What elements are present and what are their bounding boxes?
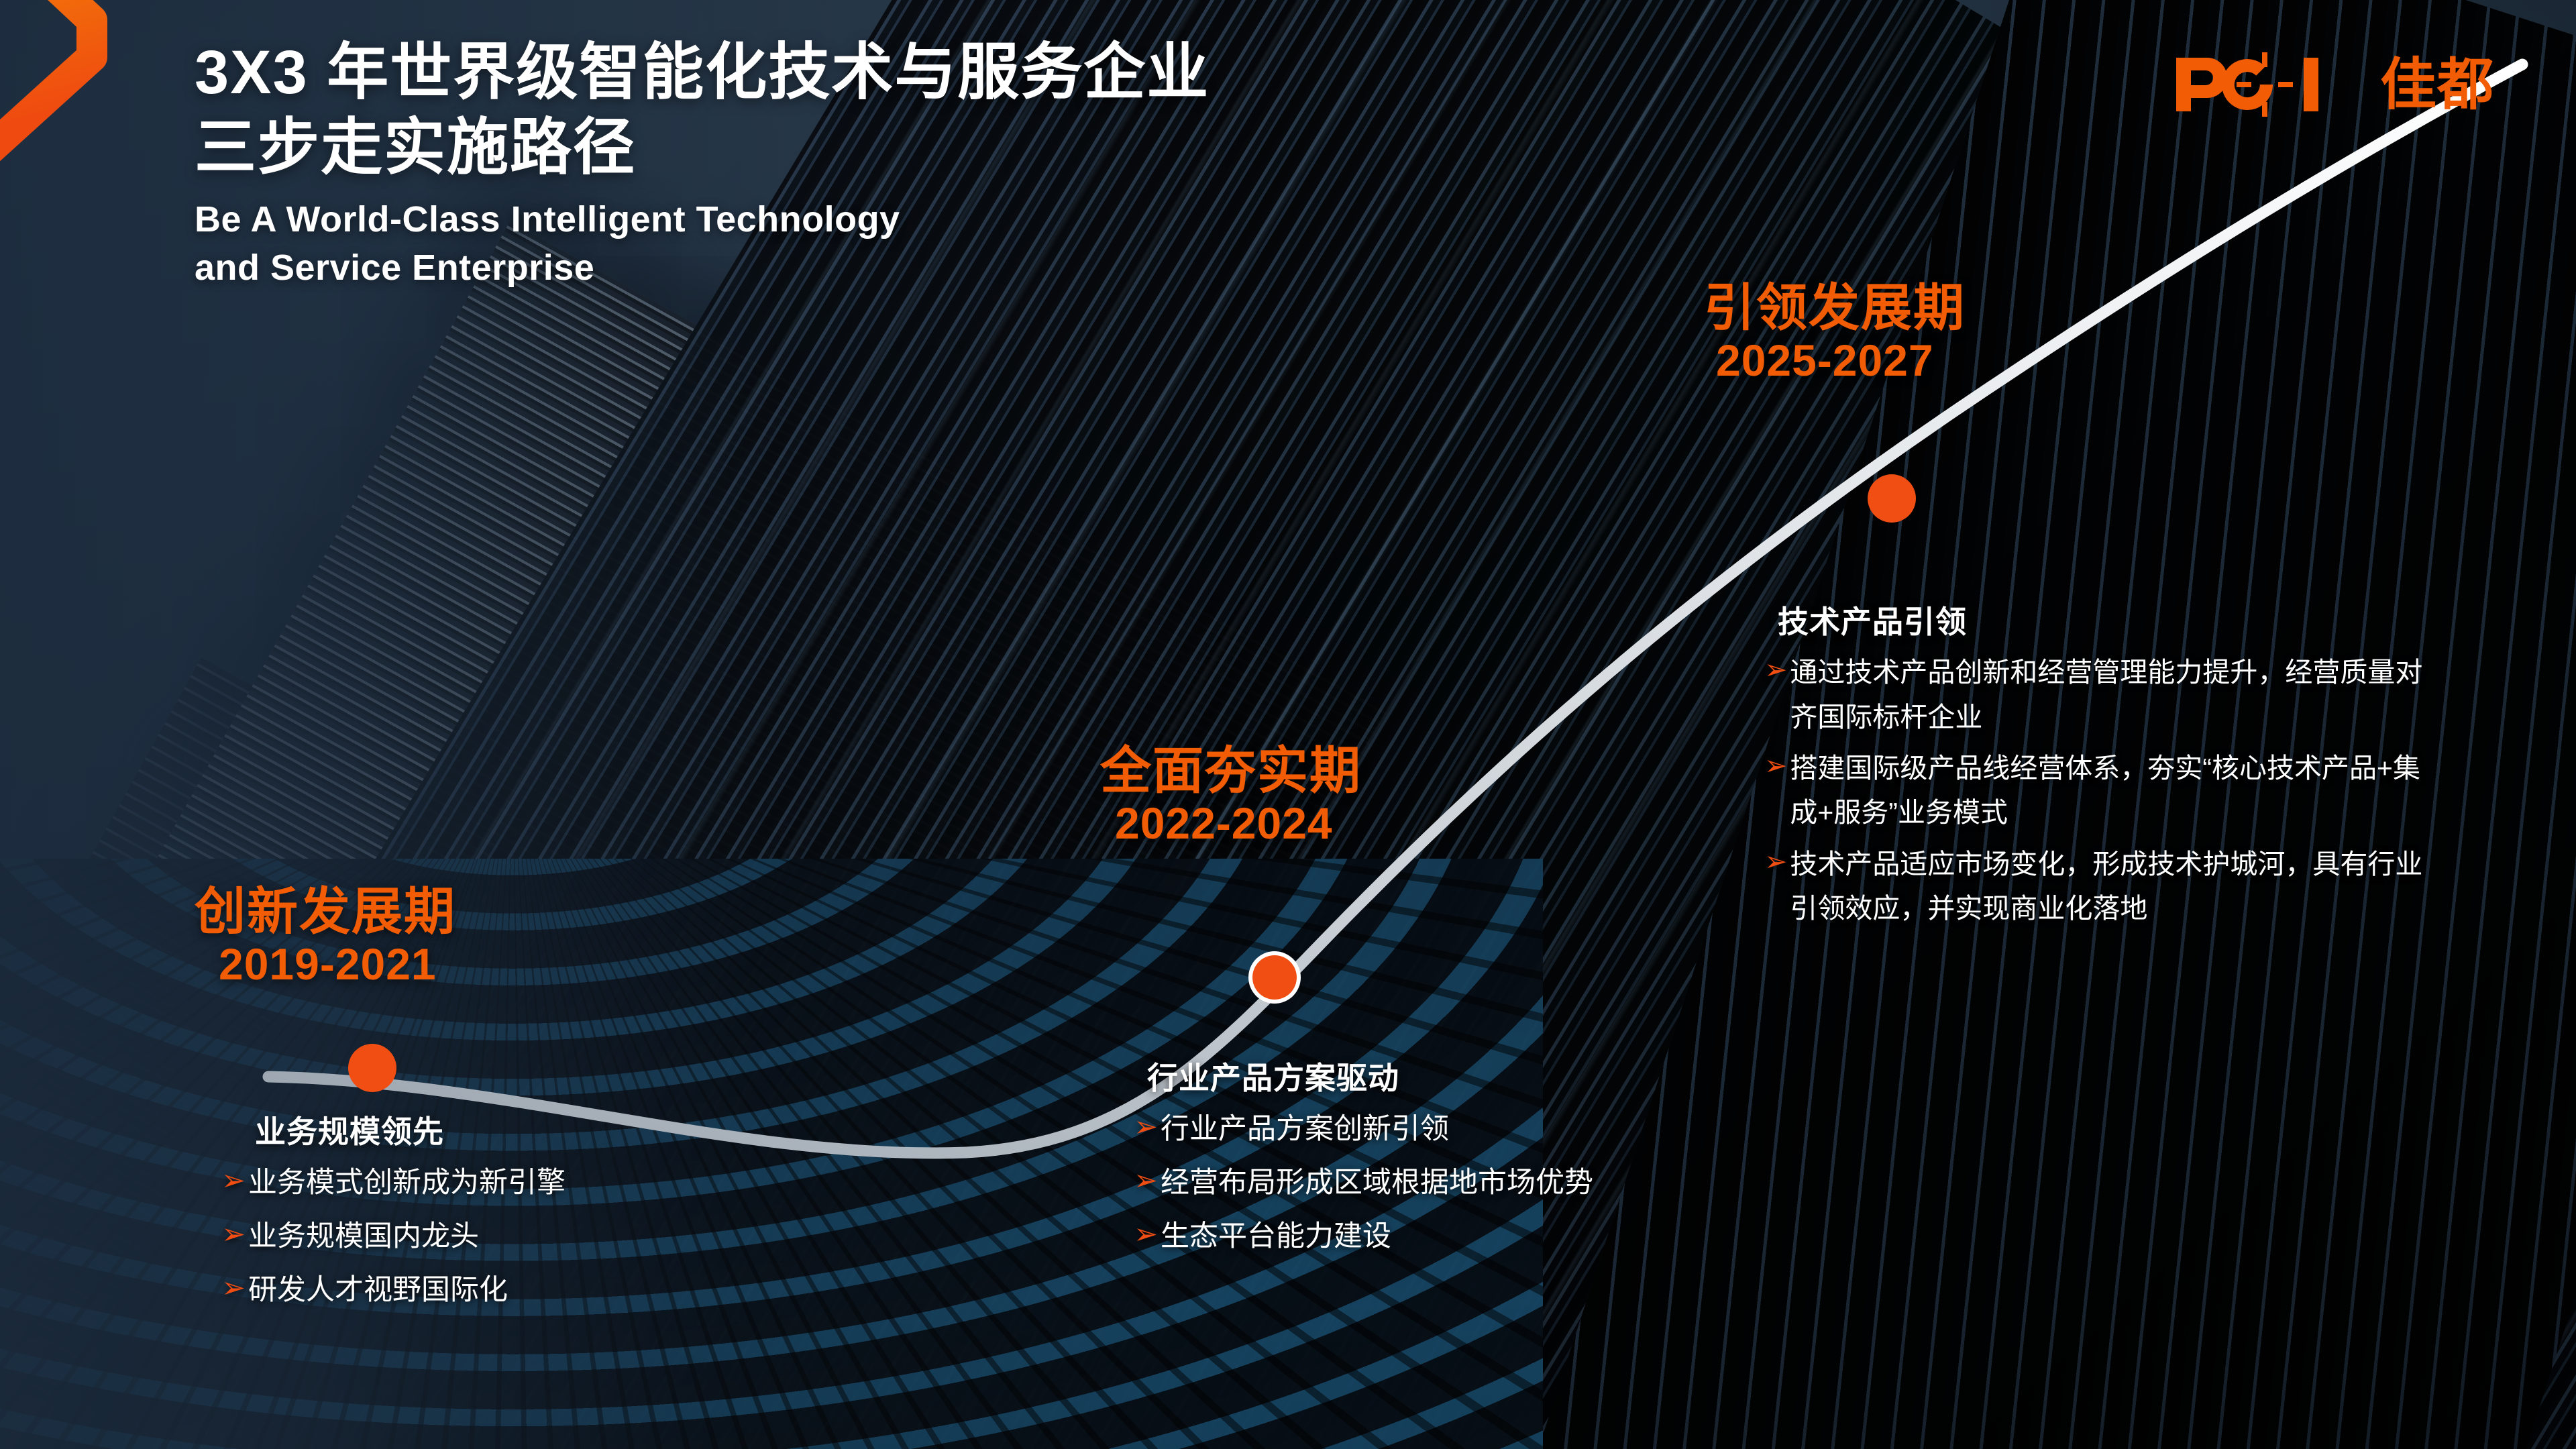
page-subtitle-en-line2: and Service Enterprise <box>195 244 1838 292</box>
list-item-label: 经营布局形成区域根据地市场优势 <box>1161 1160 1737 1207</box>
phase-2-bullet-list: ➢ 行业产品方案创新引领 ➢ 经营布局形成区域根据地市场优势 ➢ 生态平台能力建… <box>1134 1106 1737 1260</box>
phase-2-years: 2022-2024 <box>1115 799 1362 848</box>
bullet-arrow-icon: ➢ <box>221 1160 246 1201</box>
list-item: ➢ 研发人才视野国际化 <box>221 1267 731 1314</box>
milestone-dot-1[interactable] <box>348 1044 396 1092</box>
list-item-label: 业务规模国内龙头 <box>248 1214 731 1260</box>
phase-1-years: 2019-2021 <box>219 940 456 989</box>
page-subtitle-en-line1: Be A World-Class Intelligent Technology <box>195 196 1838 244</box>
milestone-dot-2[interactable] <box>1252 955 1297 1000</box>
page-title-zh-line2: 三步走实施路径 <box>195 110 1838 185</box>
list-item-label: 行业产品方案创新引领 <box>1161 1106 1737 1153</box>
list-item: ➢ 行业产品方案创新引领 <box>1134 1106 1737 1153</box>
list-item: ➢ 技术产品适应市场变化，形成技术护城河，具有行业引领效应，并实现商业化落地 <box>1764 842 2428 931</box>
phase-2-heading: 全面夯实期 2022-2024 <box>1100 745 1362 847</box>
bullet-arrow-icon: ➢ <box>1764 650 1787 690</box>
phase-3-details: 技术产品引领 ➢ 通过技术产品创新和经营管理能力提升，经营质量对齐国际标杆企业 … <box>1764 604 2428 931</box>
phase-3-name: 引领发展期 <box>1704 282 1966 336</box>
phase-3-bullet-list: ➢ 通过技术产品创新和经营管理能力提升，经营质量对齐国际标杆企业 ➢ 搭建国际级… <box>1764 650 2428 930</box>
bullet-arrow-icon: ➢ <box>221 1267 246 1309</box>
bullet-arrow-icon: ➢ <box>1134 1214 1158 1255</box>
phase-3-years: 2025-2027 <box>1716 336 1966 385</box>
bullet-arrow-icon: ➢ <box>1764 842 1787 881</box>
phase-1-details: 业务规模领先 ➢ 业务模式创新成为新引擎 ➢ 业务规模国内龙头 ➢ 研发人才视野… <box>221 1114 731 1313</box>
phase-2-detail-title: 行业产品方案驱动 <box>1147 1060 1737 1097</box>
bullet-arrow-icon: ➢ <box>1764 746 1787 786</box>
phase-1-name: 创新发展期 <box>195 885 456 940</box>
phase-1-detail-title: 业务规模领先 <box>255 1114 731 1150</box>
slide-canvas: 3X3 年世界级智能化技术与服务企业 三步走实施路径 Be A World-Cl… <box>0 0 2576 1449</box>
phase-3-heading: 引领发展期 2025-2027 <box>1704 282 1966 384</box>
logo-brand-name: 佳都 <box>2380 56 2494 113</box>
list-item-label: 业务模式创新成为新引擎 <box>248 1160 731 1207</box>
phase-1-bullet-list: ➢ 业务模式创新成为新引擎 ➢ 业务规模国内龙头 ➢ 研发人才视野国际化 <box>221 1160 731 1313</box>
bullet-arrow-icon: ➢ <box>1134 1106 1158 1148</box>
list-item-label: 技术产品适应市场变化，形成技术护城河，具有行业引领效应，并实现商业化落地 <box>1790 842 2428 931</box>
page-title-zh-line1: 3X3 年世界级智能化技术与服务企业 <box>195 35 1838 110</box>
brand-logo: 佳都 <box>2172 52 2494 117</box>
list-item-label: 研发人才视野国际化 <box>248 1267 731 1314</box>
list-item: ➢ 业务规模国内龙头 <box>221 1214 731 1260</box>
bullet-arrow-icon: ➢ <box>1134 1160 1158 1201</box>
list-item: ➢ 经营布局形成区域根据地市场优势 <box>1134 1160 1737 1207</box>
list-item: ➢ 通过技术产品创新和经营管理能力提升，经营质量对齐国际标杆企业 <box>1764 650 2428 739</box>
phase-3-detail-title: 技术产品引领 <box>1778 604 2428 641</box>
list-item: ➢ 生态平台能力建设 <box>1134 1214 1737 1260</box>
bullet-arrow-icon: ➢ <box>221 1214 246 1255</box>
slide-header: 3X3 年世界级智能化技术与服务企业 三步走实施路径 Be A World-Cl… <box>195 35 1838 292</box>
phase-2-details: 行业产品方案驱动 ➢ 行业产品方案创新引领 ➢ 经营布局形成区域根据地市场优势 … <box>1134 1060 1737 1260</box>
phase-2-name: 全面夯实期 <box>1100 745 1362 799</box>
list-item: ➢ 业务模式创新成为新引擎 <box>221 1160 731 1207</box>
list-item: ➢ 搭建国际级产品线经营体系，夯实“核心技术产品+集成+服务”业务模式 <box>1764 746 2428 835</box>
list-item-label: 通过技术产品创新和经营管理能力提升，经营质量对齐国际标杆企业 <box>1790 650 2428 739</box>
phase-1-heading: 创新发展期 2019-2021 <box>195 885 456 988</box>
list-item-label: 生态平台能力建设 <box>1161 1214 1737 1260</box>
list-item-label: 搭建国际级产品线经营体系，夯实“核心技术产品+集成+服务”业务模式 <box>1790 746 2428 835</box>
milestone-dot-3[interactable] <box>1868 474 1916 523</box>
pci-logo-icon <box>2172 52 2373 117</box>
